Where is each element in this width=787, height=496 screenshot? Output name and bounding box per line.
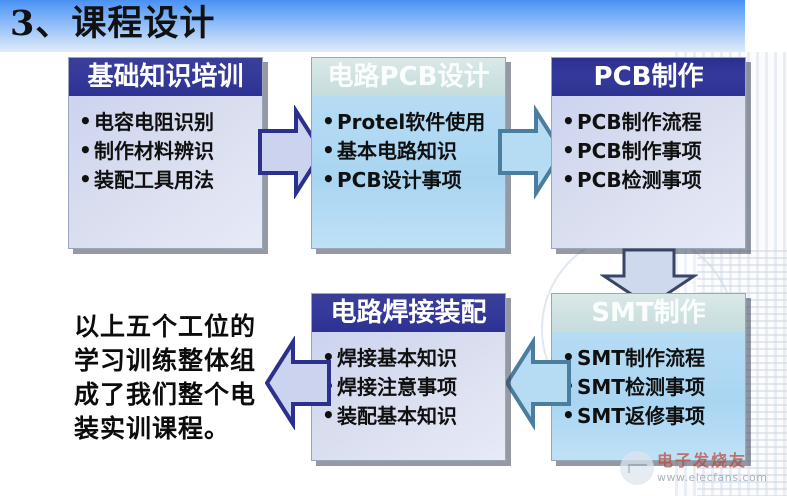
process-box-circuit-soldering-assembly[interactable]: 电路焊接装配 焊接基本知识 焊接注意事项 装配基本知识 [311,293,506,461]
watermark: 电子发烧友 www.elecfans.com [620,444,780,492]
list-item: PCB设计事项 [322,166,501,195]
list-item: 装配基本知识 [322,402,501,431]
list-item: SMT制作流程 [562,344,741,373]
box-inner: 电路PCB设计 Protel软件使用 基本电路知识 PCB设计事项 [311,57,506,249]
box-body: Protel软件使用 基本电路知识 PCB设计事项 [312,96,505,248]
list-item: PCB检测事项 [562,166,741,195]
list-item: PCB制作事项 [562,137,741,166]
box-body: PCB制作流程 PCB制作事项 PCB检测事项 [552,96,745,248]
process-box-basic-knowledge-training[interactable]: 基础知识培训 电容电阻识别 制作材料辨识 装配工具用法 [68,57,263,249]
list-item: 焊接注意事项 [322,373,501,402]
box-body: SMT制作流程 SMT检测事项 SMT返修事项 [552,332,745,460]
box-bullet-list: SMT制作流程 SMT检测事项 SMT返修事项 [562,344,741,431]
list-item: 装配工具用法 [79,166,258,195]
box-header-title: 基础知识培训 [69,58,262,96]
box-header-title: PCB制作 [552,58,745,96]
box-header-title: SMT制作 [552,294,745,332]
watermark-brand: 电子发烧友 [657,453,767,469]
box-inner: 电路焊接装配 焊接基本知识 焊接注意事项 装配基本知识 [311,293,506,461]
page-title: 3、课程设计 [10,2,215,46]
process-box-circuit-pcb-design[interactable]: 电路PCB设计 Protel软件使用 基本电路知识 PCB设计事项 [311,57,506,249]
header-band-right-filler [745,0,787,52]
box-header-title: 电路PCB设计 [312,58,505,96]
box-inner: 基础知识培训 电容电阻识别 制作材料辨识 装配工具用法 [68,57,263,249]
list-item: SMT返修事项 [562,402,741,431]
box-bullet-list: PCB制作流程 PCB制作事项 PCB检测事项 [562,108,741,195]
list-item: 电容电阻识别 [79,108,258,137]
arrow-smt-to-soldering-icon [505,336,571,430]
summary-paragraph: 以上五个工位的学习训练整体组成了我们整个电装实训课程。 [74,310,274,446]
list-item: 制作材料辨识 [79,137,258,166]
box-body: 电容电阻识别 制作材料辨识 装配工具用法 [69,96,262,248]
watermark-text: 电子发烧友 www.elecfans.com [657,453,767,483]
watermark-url: www.elecfans.com [657,472,767,483]
box-bullet-list: 电容电阻识别 制作材料辨识 装配工具用法 [79,108,258,195]
box-header-title: 电路焊接装配 [312,294,505,332]
box-inner: PCB制作 PCB制作流程 PCB制作事项 PCB检测事项 [551,57,746,249]
list-item: 基本电路知识 [322,137,501,166]
list-item: Protel软件使用 [322,108,501,137]
chip-circle-icon [620,451,654,485]
list-item: 焊接基本知识 [322,344,501,373]
arrow-soldering-to-summary-icon [265,336,331,430]
box-body: 焊接基本知识 焊接注意事项 装配基本知识 [312,332,505,460]
list-item: SMT检测事项 [562,373,741,402]
process-box-pcb-fabrication[interactable]: PCB制作 PCB制作流程 PCB制作事项 PCB检测事项 [551,57,746,249]
box-bullet-list: Protel软件使用 基本电路知识 PCB设计事项 [322,108,501,195]
list-item: PCB制作流程 [562,108,741,137]
box-bullet-list: 焊接基本知识 焊接注意事项 装配基本知识 [322,344,501,431]
process-box-smt-fabrication[interactable]: SMT制作 SMT制作流程 SMT检测事项 SMT返修事项 [551,293,746,461]
slide-canvas: 3、课程设计 基础知识培训 电容电阻识别 制作材料辨识 装配工具用法 电路PCB… [0,0,787,496]
box-inner: SMT制作 SMT制作流程 SMT检测事项 SMT返修事项 [551,293,746,461]
